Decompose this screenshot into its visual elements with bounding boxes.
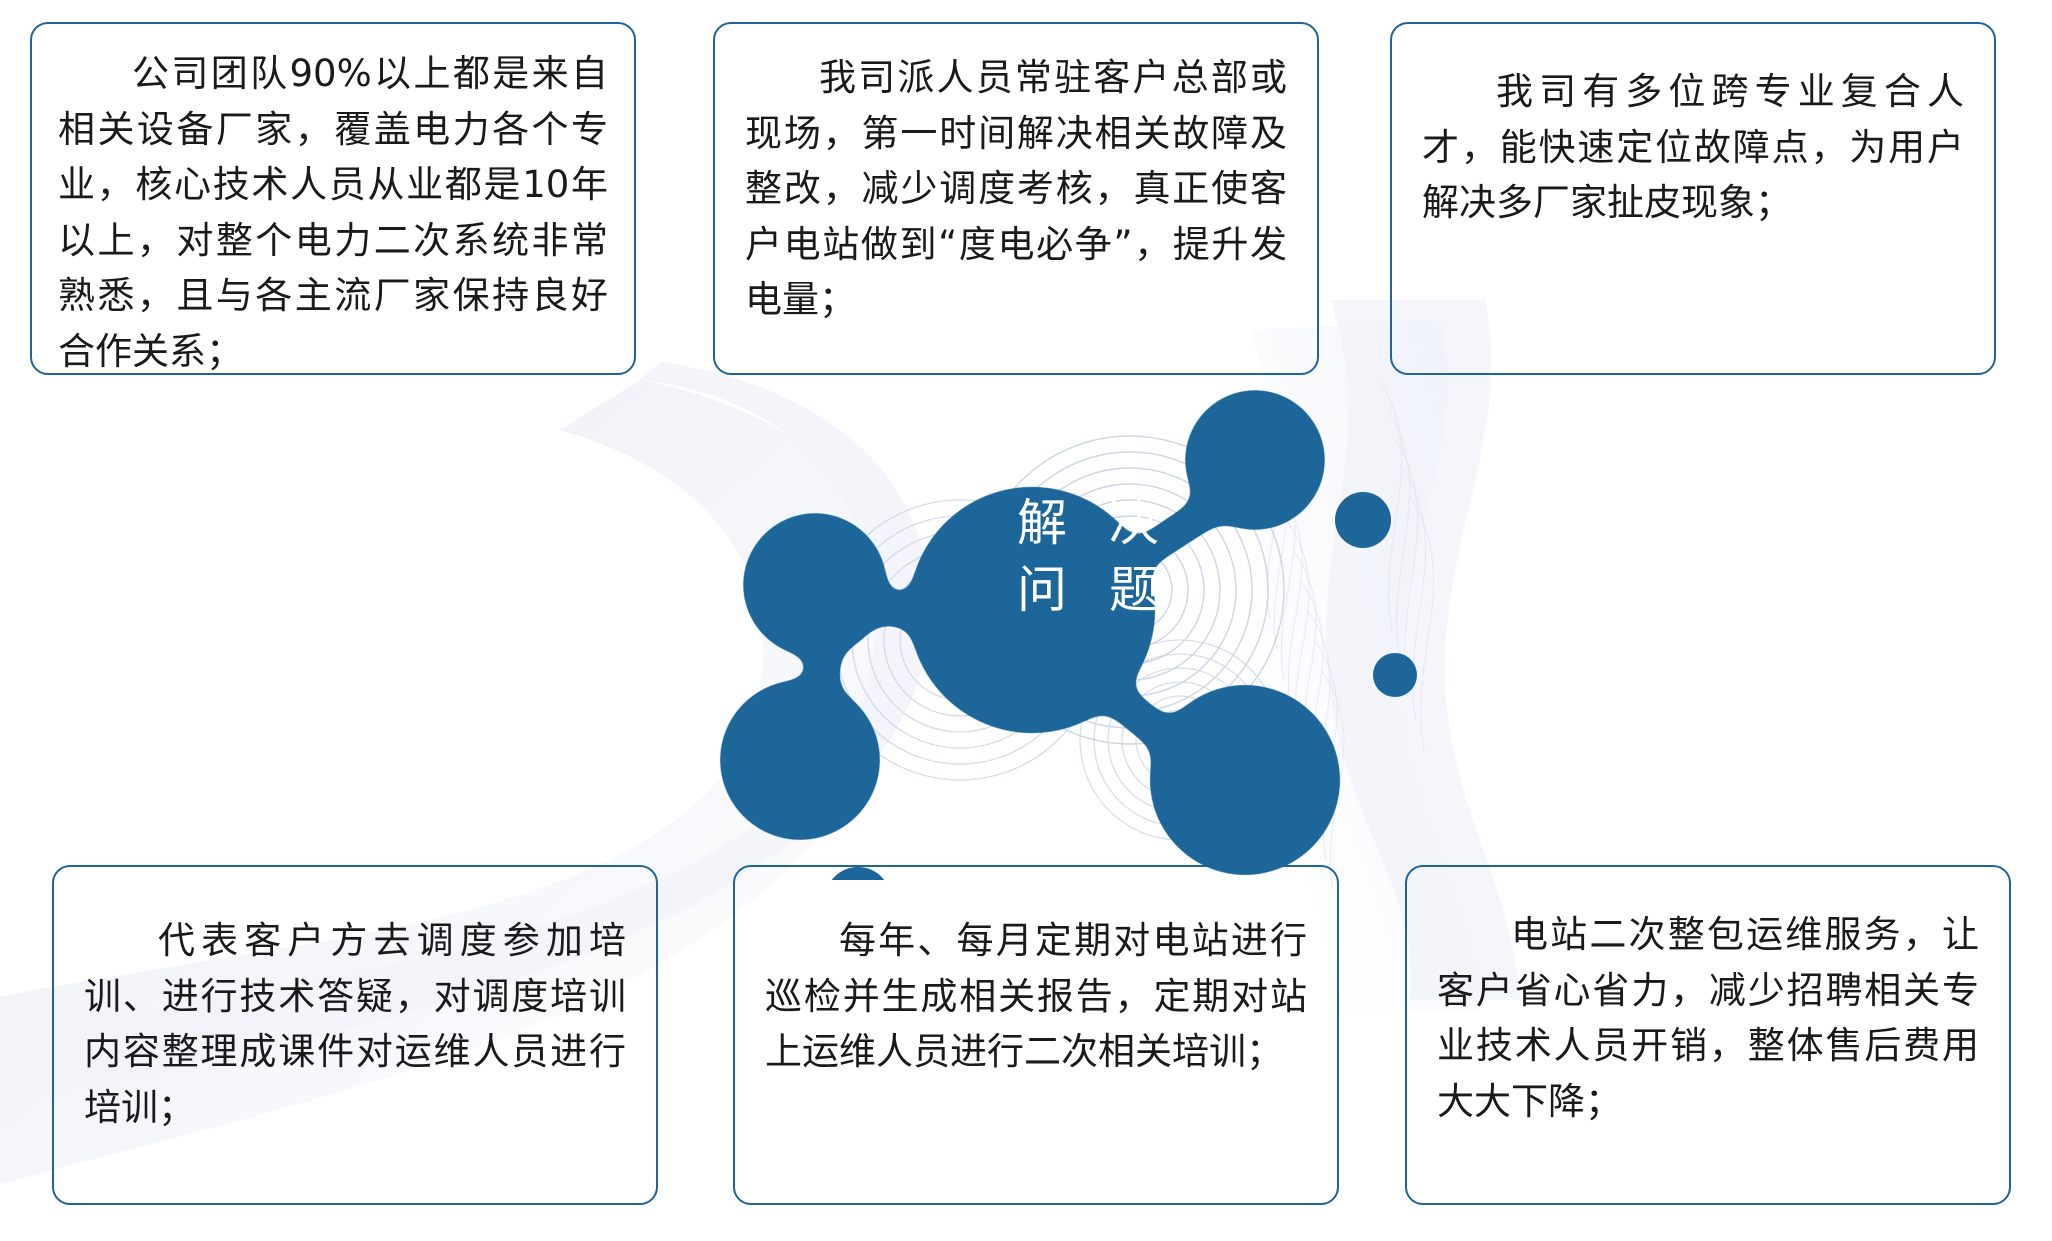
molecule-blobs	[720, 390, 1340, 875]
info-card-bottom-center[interactable]: 每年、每月定期对电站进行巡检并生成相关报告，定期对站上运维人员进行二次相关培训；	[733, 865, 1339, 1205]
node-left-upper	[743, 513, 887, 657]
node-bottom-right	[1150, 685, 1340, 875]
dot-small-upper-right	[1335, 492, 1391, 548]
info-card-text: 每年、每月定期对电站进行巡检并生成相关报告，定期对站上运维人员进行二次相关培训；	[765, 913, 1307, 1080]
molecule-diagram	[660, 340, 1420, 880]
info-card-bottom-right[interactable]: 电站二次整包运维服务，让客户省心省力，减少招聘相关专业技术人员开销，整体售后费用…	[1405, 865, 2011, 1205]
node-top-right	[1185, 390, 1325, 530]
info-card-top-center[interactable]: 我司派人员常驻客户总部或现场，第一时间解决相关故障及整改，减少调度考核，真正使客…	[713, 22, 1319, 375]
info-card-text: 电站二次整包运维服务，让客户省心省力，减少招聘相关专业技术人员开销，整体售后费用…	[1437, 907, 1979, 1129]
info-card-text: 代表客户方去调度参加培训、进行技术答疑，对调度培训内容整理成课件对运维人员进行培…	[84, 913, 626, 1135]
node-hub	[909, 487, 1155, 733]
info-card-text: 我司有多位跨专业复合人才，能快速定位故障点，为用户解决多厂家扯皮现象；	[1422, 64, 1964, 231]
info-card-text: 公司团队90%以上都是来自相关设备厂家，覆盖电力各个专业，核心技术人员从业都是1…	[58, 46, 608, 379]
info-card-top-left[interactable]: 公司团队90%以上都是来自相关设备厂家，覆盖电力各个专业，核心技术人员从业都是1…	[30, 22, 636, 375]
node-left-lower	[720, 680, 880, 840]
info-card-text: 我司派人员常驻客户总部或现场，第一时间解决相关故障及整改，减少调度考核，真正使客…	[745, 50, 1287, 328]
dot-small-right	[1373, 653, 1417, 697]
info-card-bottom-left[interactable]: 代表客户方去调度参加培训、进行技术答疑，对调度培训内容整理成课件对运维人员进行培…	[52, 865, 658, 1205]
info-card-top-right[interactable]: 我司有多位跨专业复合人才，能快速定位故障点，为用户解决多厂家扯皮现象；	[1390, 22, 1996, 375]
infographic-canvas: 解 决 问 题 公司团队90%以上都是来自相关设备厂家，覆盖电力各个专业，核心技…	[0, 0, 2052, 1241]
